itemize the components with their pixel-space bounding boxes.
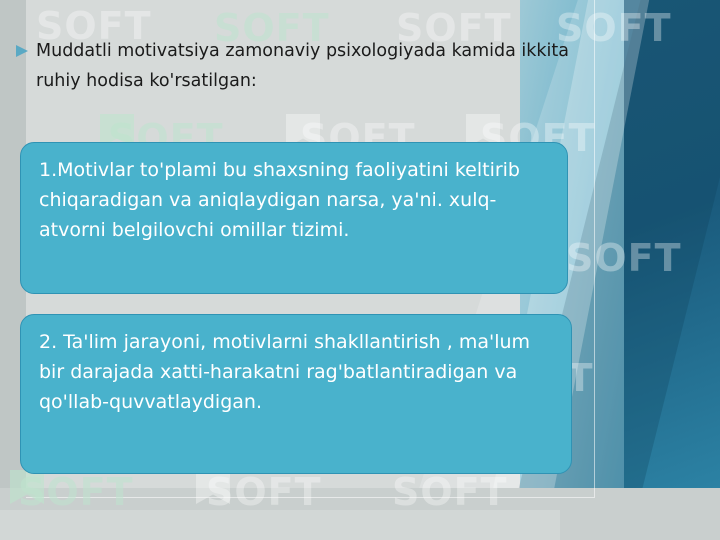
slide-content: Muddatli motivatsiya zamonaviy psixologi… [0,0,720,540]
heading-bullet-row: Muddatli motivatsiya zamonaviy psixologi… [14,36,574,96]
slide: SOFT SOFT SOFT SOFT SOFT SOFT SOFT SOFT … [0,0,720,540]
callout-box-2: 2. Ta'lim jarayoni, motivlarni shakllant… [20,314,572,474]
callout-box-1: 1.Motivlar to'plami bu shaxsning faoliya… [20,142,568,294]
page-title: Muddatli motivatsiya zamonaviy psixologi… [36,36,574,96]
triangle-bullet-icon [14,42,32,60]
